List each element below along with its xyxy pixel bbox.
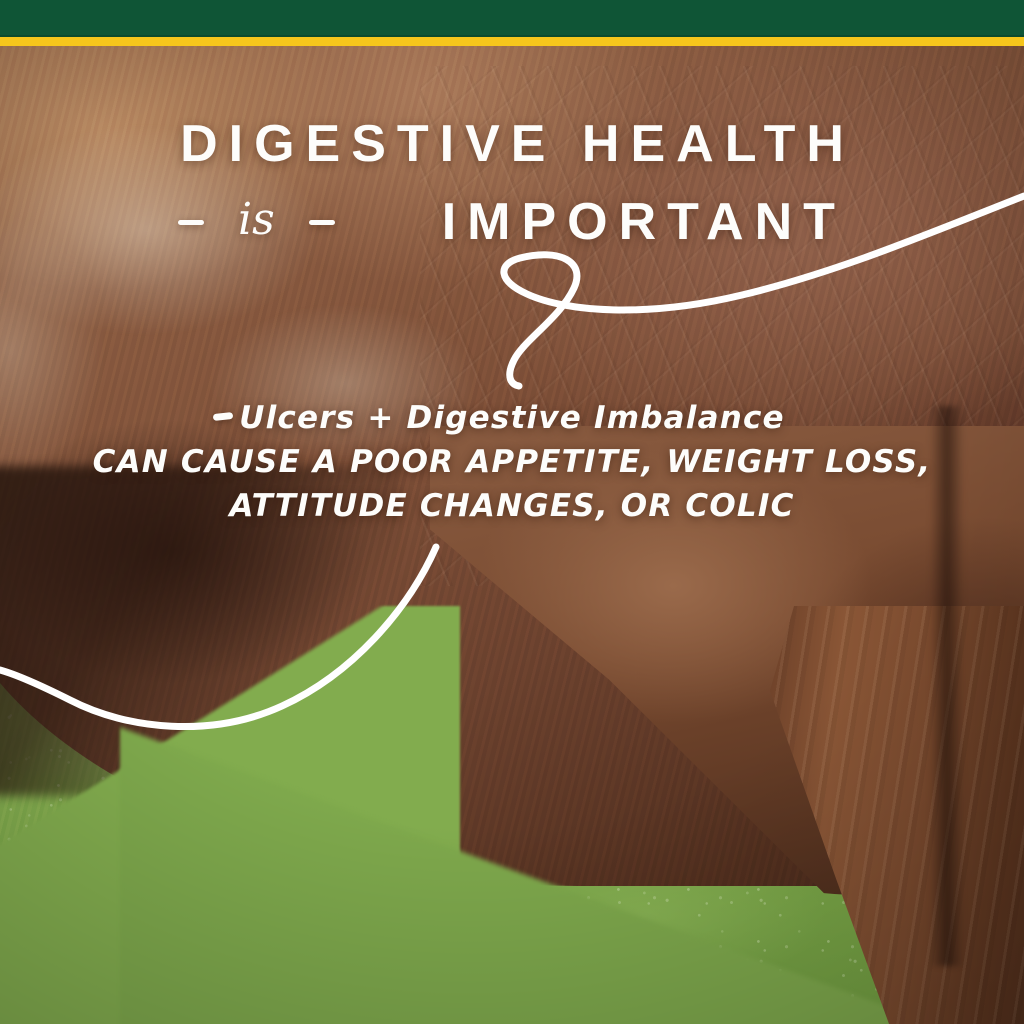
body-line-1: Ulcers + Digestive Imbalance [239, 400, 785, 436]
headline-connector: is [238, 198, 275, 242]
brand-bar-green [0, 0, 1024, 35]
headline-line-2-row: is IMPORTANT [0, 196, 1024, 248]
brand-bar-yellow [0, 37, 1024, 46]
body-line-2: can cause a poor appetite, weight loss, [0, 440, 1024, 484]
headline-line-2: IMPORTANT [431, 196, 846, 248]
headline-line-1: DIGESTIVE HEALTH [0, 118, 1024, 170]
bullet-dash-icon [213, 412, 234, 421]
body-copy-block: Ulcers + Digestive Imbalance can cause a… [0, 396, 1024, 528]
body-line-1-wrapper: Ulcers + Digestive Imbalance [0, 396, 1024, 440]
poster-canvas: DIGESTIVE HEALTH is IMPORTANT Ulcers + D… [0, 0, 1024, 1024]
dash-left-icon [178, 220, 204, 225]
body-line-3: attitude changes, or colic [0, 484, 1024, 528]
dash-right-icon [309, 220, 335, 225]
